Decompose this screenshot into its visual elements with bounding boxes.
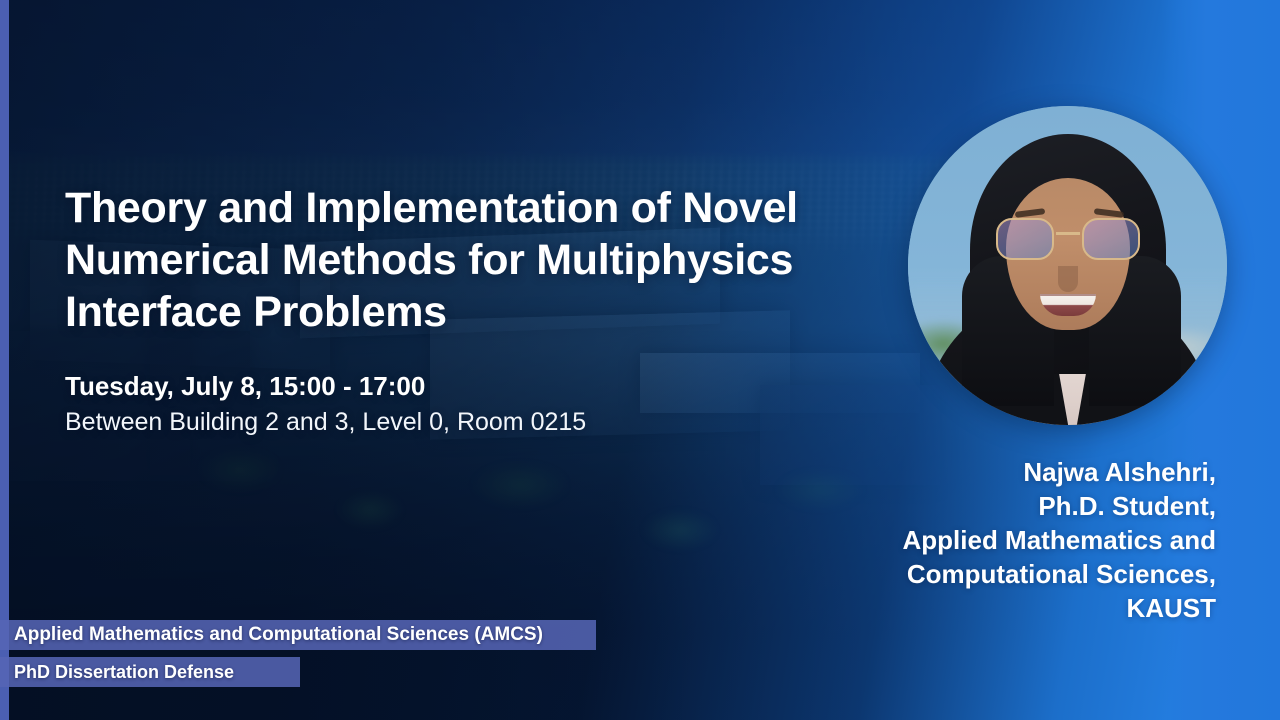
- event-details-block: Tuesday, July 8, 15:00 - 17:00 Between B…: [65, 368, 825, 440]
- portrait-lens-right: [1082, 218, 1140, 260]
- speaker-affiliation-line-2: Computational Sciences,: [696, 557, 1216, 591]
- department-banner-label: Applied Mathematics and Computational Sc…: [14, 624, 543, 646]
- event-location: Between Building 2 and 3, Level 0, Room …: [65, 404, 825, 440]
- event-type-banner-label: PhD Dissertation Defense: [14, 662, 234, 683]
- portrait-lens-left: [996, 218, 1054, 260]
- speaker-portrait: [908, 106, 1227, 425]
- event-type-banner: PhD Dissertation Defense: [0, 657, 300, 687]
- speaker-institution: KAUST: [696, 591, 1216, 625]
- headline-block: Theory and Implementation of Novel Numer…: [65, 182, 825, 338]
- seminar-title: Theory and Implementation of Novel Numer…: [65, 182, 825, 338]
- left-accent-stripe: [0, 0, 9, 720]
- speaker-affiliation-line-1: Applied Mathematics and: [696, 523, 1216, 557]
- department-banner: Applied Mathematics and Computational Sc…: [0, 620, 596, 650]
- portrait-eyeglasses: [994, 218, 1142, 262]
- portrait-nose: [1058, 266, 1078, 292]
- speaker-name: Najwa Alshehri,: [696, 455, 1216, 489]
- event-datetime: Tuesday, July 8, 15:00 - 17:00: [65, 368, 825, 404]
- announcement-slide: Theory and Implementation of Novel Numer…: [0, 0, 1280, 720]
- speaker-info-block: Najwa Alshehri, Ph.D. Student, Applied M…: [696, 455, 1216, 625]
- speaker-role: Ph.D. Student,: [696, 489, 1216, 523]
- portrait-glasses-bridge: [1056, 232, 1080, 235]
